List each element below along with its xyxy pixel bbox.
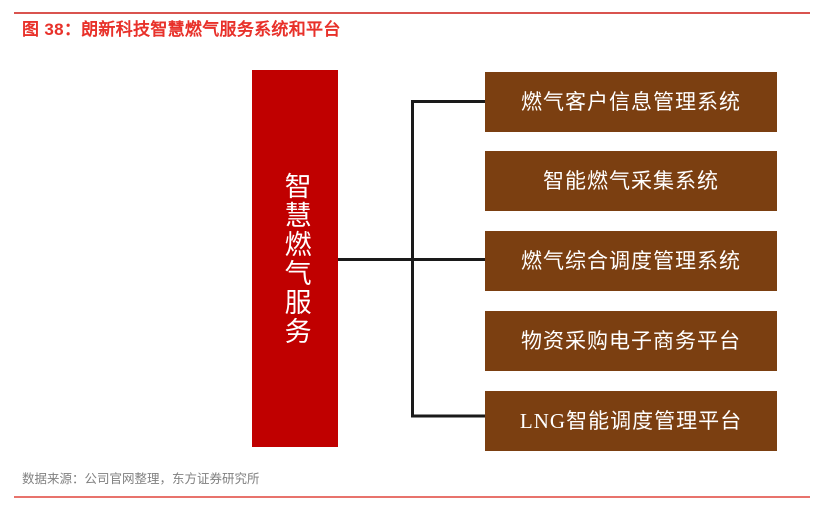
leaf-node-5-label: LNG智能调度管理平台 (520, 411, 742, 432)
leaf-node-3-label: 燃气综合调度管理系统 (521, 251, 741, 272)
figure-source-note: 数据来源：公司官网整理，东方证券研究所 (22, 470, 260, 488)
leaf-node-2-label: 智能燃气采集系统 (543, 171, 719, 192)
leaf-node-2[interactable]: 智能燃气采集系统 (485, 151, 777, 211)
figure-container: 图 38：朗新科技智慧燃气服务系统和平台 智慧燃气服务 燃气客户信息管理系统 智… (0, 0, 824, 517)
diagram-canvas: 智慧燃气服务 燃气客户信息管理系统 智能燃气采集系统 燃气综合调度管理系统 物资… (0, 48, 824, 468)
leaf-node-1[interactable]: 燃气客户信息管理系统 (485, 72, 777, 132)
leaf-node-4[interactable]: 物资采购电子商务平台 (485, 311, 777, 371)
root-node-label: 智慧燃气服务 (276, 172, 313, 346)
figure-title: 图 38：朗新科技智慧燃气服务系统和平台 (22, 18, 341, 42)
leaf-node-3[interactable]: 燃气综合调度管理系统 (485, 231, 777, 291)
leaf-node-1-label: 燃气客户信息管理系统 (521, 92, 741, 113)
root-node-smart-gas-service[interactable]: 智慧燃气服务 (252, 70, 338, 447)
bottom-divider-rule (14, 496, 810, 498)
top-divider-rule (14, 12, 810, 14)
leaf-node-4-label: 物资采购电子商务平台 (521, 331, 741, 352)
leaf-node-5[interactable]: LNG智能调度管理平台 (485, 391, 777, 451)
